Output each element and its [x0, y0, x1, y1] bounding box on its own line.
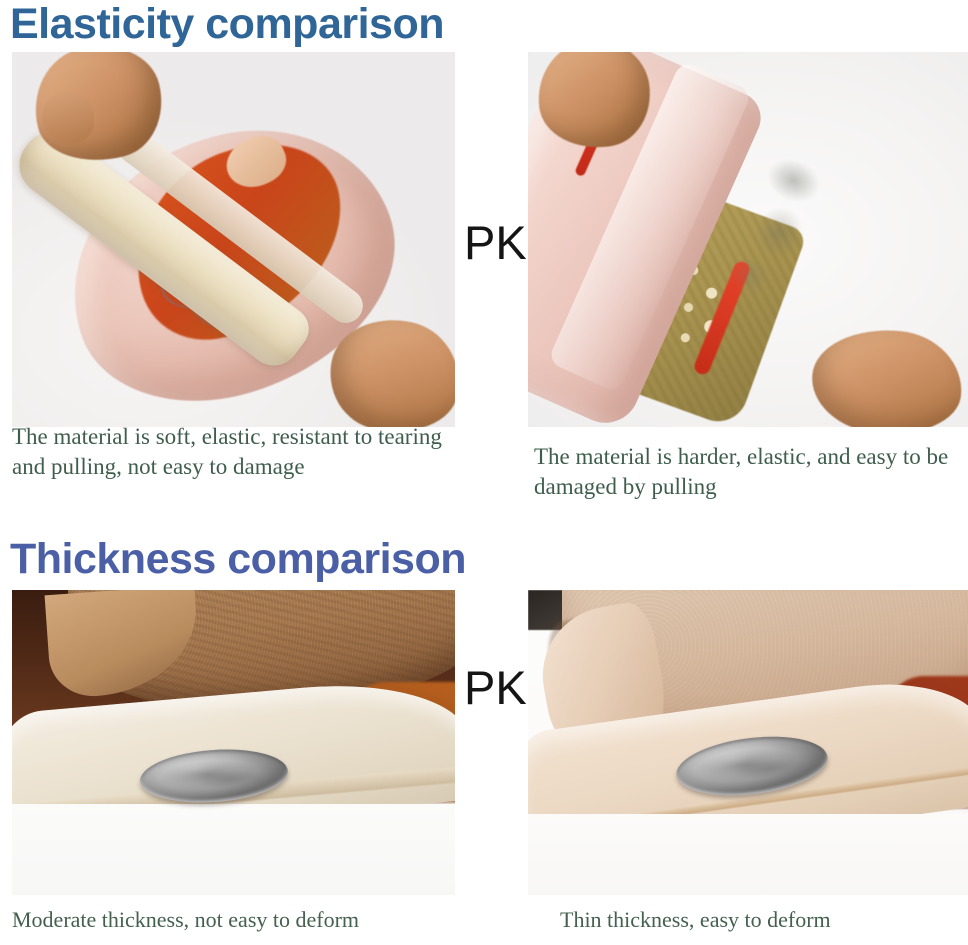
section-title-thickness: Thickness comparison — [10, 538, 466, 581]
finger-shape — [42, 92, 94, 144]
white-table-surface — [528, 814, 968, 895]
versus-label-elasticity: PK — [464, 219, 527, 266]
section-title-elasticity: Elasticity comparison — [10, 3, 444, 46]
white-table-surface — [12, 804, 455, 895]
caption-thickness-thin: Thin thickness, easy to deform — [560, 906, 831, 934]
caption-thickness-moderate: Moderate thickness, not easy to deform — [12, 906, 359, 934]
soft-silicone-stretch-photo — [12, 52, 455, 427]
hard-silicone-stretch-photo — [528, 52, 968, 427]
moderate-thickness-coin-photo — [12, 590, 455, 895]
hand-bottom-right-shape — [807, 322, 967, 427]
thin-thickness-coin-photo — [528, 590, 968, 895]
infographic-page: Elasticity comparison PK The material is… — [0, 0, 968, 945]
versus-label-thickness: PK — [464, 664, 527, 711]
caption-elasticity-soft: The material is soft, elastic, resistant… — [12, 422, 452, 482]
caption-elasticity-hard: The material is harder, elastic, and eas… — [534, 442, 964, 502]
